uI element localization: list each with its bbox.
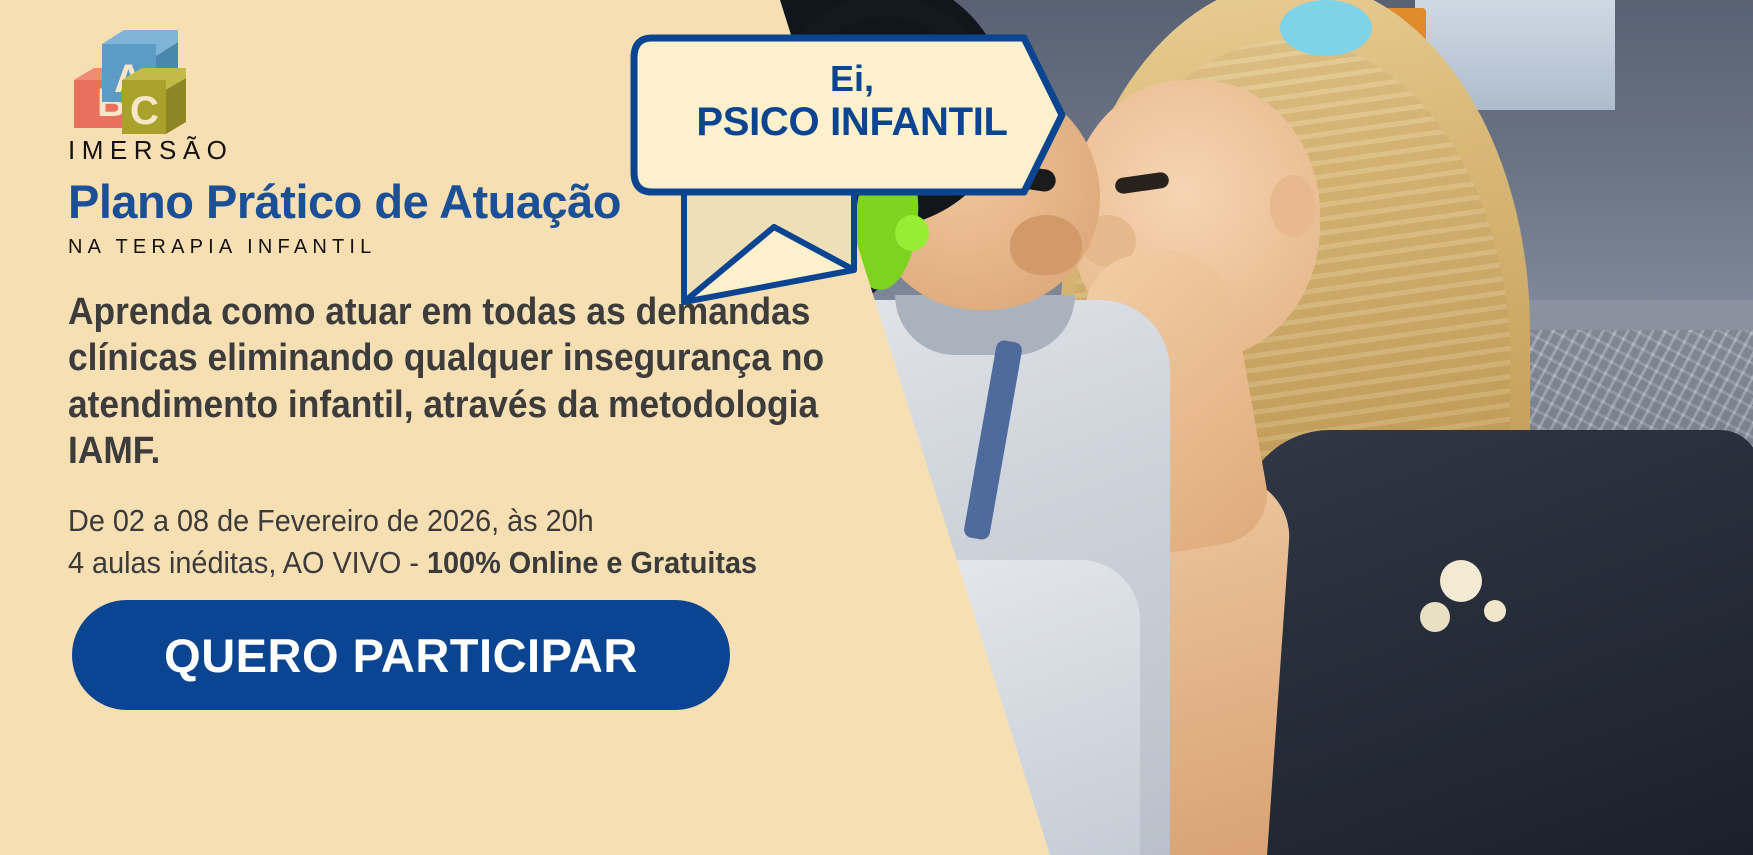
girl-ear [1270,175,1316,237]
speech-bubble-shape [624,12,1094,312]
girl-hair-clip [1280,0,1372,56]
quero-participar-button[interactable]: QUERO PARTICIPAR [72,600,730,710]
block-c: C [122,68,186,134]
svg-text:C: C [130,89,159,133]
schedule-info: De 02 a 08 de Fevereiro de 2026, às 20h … [68,500,868,584]
abc-blocks-icon: B A C [72,28,187,138]
lede-paragraph: Aprenda como atuar em todas as demandas … [68,289,831,474]
promo-banner: B A C IMERSÃO Plano Prático de Atuação N… [0,0,1753,855]
classes-line-highlight: 100% Online e Gratuitas [427,545,757,580]
speech-bubble: Ei, PSICO INFANTIL [628,18,1076,186]
classes-line: 4 aulas inéditas, AO VIVO - 100% Online … [68,542,868,584]
girl-shirt-print [1440,560,1482,602]
classes-line-prefix: 4 aulas inéditas, AO VIVO - [68,545,427,580]
girl-shirt [1240,430,1753,855]
date-line: De 02 a 08 de Fevereiro de 2026, às 20h [68,500,868,542]
